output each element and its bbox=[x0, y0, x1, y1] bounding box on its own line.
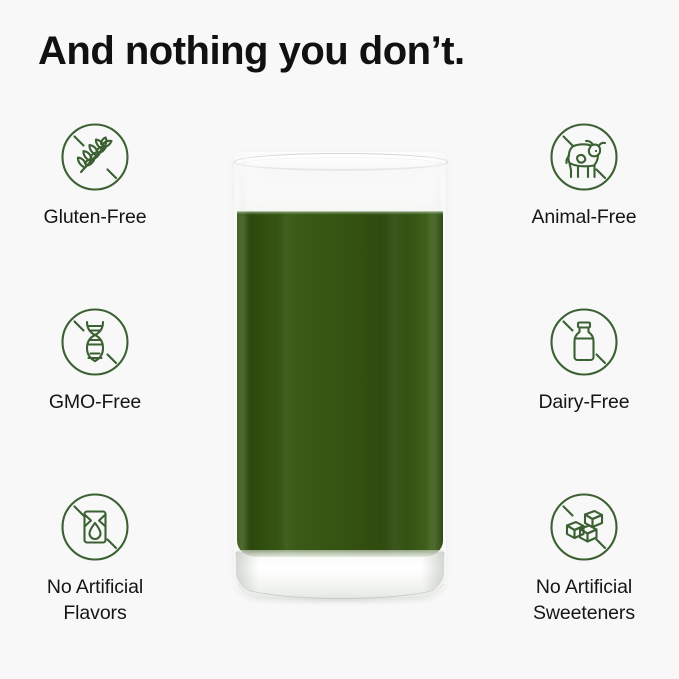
benefits-column-left: Gluten-Free GM bbox=[0, 120, 195, 675]
badge-gmo-free: GMO-Free bbox=[0, 305, 195, 490]
product-benefits-panel: And nothing you don’t. bbox=[0, 0, 679, 679]
page-title: And nothing you don’t. bbox=[38, 27, 465, 75]
no-dairy-milk-bottle-icon bbox=[547, 305, 621, 379]
glass-of-green-juice bbox=[226, 152, 454, 604]
no-animal-cow-icon bbox=[547, 120, 621, 194]
badge-label: No Artificial Sweeteners bbox=[533, 574, 635, 626]
badge-no-artificial-flavors: No Artificial Flavors bbox=[0, 490, 195, 675]
badge-label: Animal-Free bbox=[531, 204, 636, 230]
badge-label: No Artificial Flavors bbox=[47, 574, 143, 626]
badge-label: Gluten-Free bbox=[44, 204, 147, 230]
badge-label: GMO-Free bbox=[49, 389, 141, 415]
benefits-column-right: Animal-Free Dairy-Free bbox=[484, 120, 679, 675]
no-gluten-wheat-icon bbox=[58, 120, 132, 194]
badge-animal-free: Animal-Free bbox=[484, 120, 679, 305]
glass-rim-inner bbox=[241, 157, 441, 170]
green-juice-liquid bbox=[237, 211, 443, 557]
badge-gluten-free: Gluten-Free bbox=[0, 120, 195, 305]
no-gmo-dna-icon bbox=[58, 305, 132, 379]
no-artificial-sweeteners-sugar-cubes-icon bbox=[547, 490, 621, 564]
badge-dairy-free: Dairy-Free bbox=[484, 305, 679, 490]
no-artificial-flavors-bottle-icon bbox=[58, 490, 132, 564]
badge-label: Dairy-Free bbox=[538, 389, 629, 415]
badge-no-artificial-sweeteners: No Artificial Sweeteners bbox=[484, 490, 679, 675]
